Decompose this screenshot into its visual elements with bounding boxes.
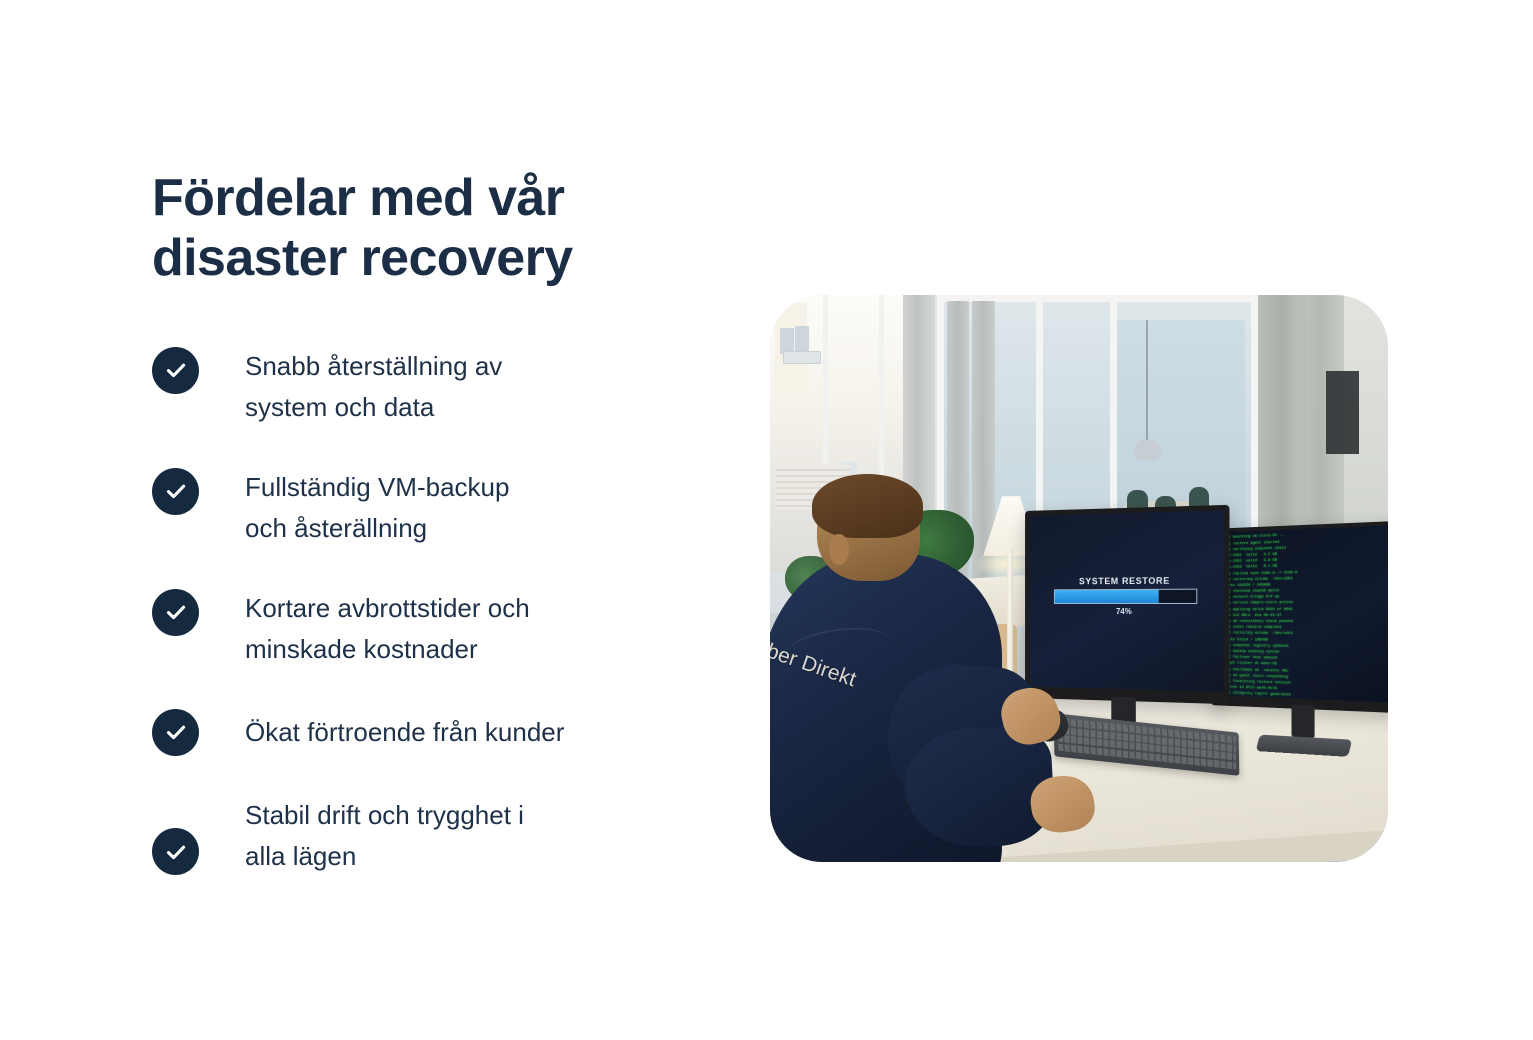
check-icon xyxy=(152,347,199,394)
list-item: Ökat förtroende från kunder xyxy=(152,708,622,756)
list-item: Stabil drift och trygghet i alla lägen xyxy=(152,794,622,877)
progress-percent-label: 74% xyxy=(1054,607,1198,616)
list-item-label: Snabb återställning av system och data xyxy=(245,345,502,428)
restore-label: SYSTEM RESTORE xyxy=(1054,575,1198,586)
ear xyxy=(829,534,849,566)
list-item: Snabb återställning av system och data xyxy=(152,345,622,428)
check-icon xyxy=(152,589,199,636)
progress-bar-fill xyxy=(1055,590,1159,603)
list-item-label: Fullständig VM-backup och åsterällning xyxy=(245,466,509,549)
wall-screen xyxy=(1326,371,1360,454)
list-item-label: Stabil drift och trygghet i alla lägen xyxy=(245,794,524,877)
page-title: Fördelar med vår disaster recovery xyxy=(152,168,622,289)
system-restore-panel: SYSTEM RESTORE 74% xyxy=(1054,575,1198,616)
check-icon xyxy=(152,468,199,515)
content-column: Fördelar med vår disaster recovery Snabb… xyxy=(152,168,622,877)
terminal-output: [ OK ] mounting vm-store-01 ... [ OK ] r… xyxy=(1217,528,1388,702)
street-sign xyxy=(783,351,821,364)
office-photo: [ OK ] mounting vm-store-01 ... [ OK ] r… xyxy=(770,295,1388,862)
benefits-list: Snabb återställning av system och data F… xyxy=(152,345,622,878)
progress-bar xyxy=(1054,589,1198,604)
terminal-screen: [ OK ] mounting vm-store-01 ... [ OK ] r… xyxy=(1214,525,1388,703)
photo-scene: [ OK ] mounting vm-store-01 ... [ OK ] r… xyxy=(770,295,1388,862)
hair xyxy=(812,474,923,538)
pendant-lamp xyxy=(1134,440,1161,460)
list-item-label: Kortare avbrottstider och minskade kostn… xyxy=(245,587,530,670)
list-item-label: Ökat förtroende från kunder xyxy=(245,711,564,753)
technician: iber Direkt xyxy=(770,482,1042,862)
monitor-left: SYSTEM RESTORE 74% xyxy=(1025,504,1229,703)
restore-screen: SYSTEM RESTORE 74% xyxy=(1030,510,1224,691)
check-icon xyxy=(152,709,199,756)
list-item: Fullständig VM-backup och åsterällning xyxy=(152,466,622,549)
check-icon xyxy=(152,828,199,875)
list-item: Kortare avbrottstider och minskade kostn… xyxy=(152,587,622,670)
monitor-right: [ OK ] mounting vm-store-01 ... [ OK ] r… xyxy=(1211,520,1388,713)
